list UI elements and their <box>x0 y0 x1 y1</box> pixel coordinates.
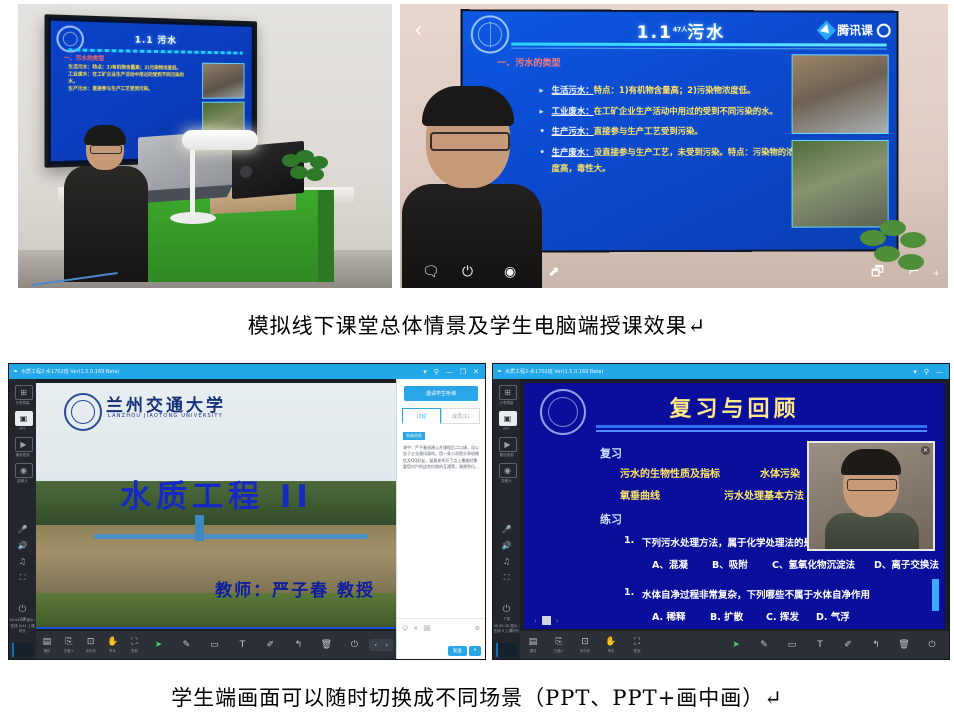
question-text: 下列污水处理方法，属于化学处理法的是 <box>642 535 813 549</box>
review-stage: 复习与回顾 复习 污水的生物性质及指标 水体污染 水体自净 氧垂曲线 污水处理基… <box>520 379 949 659</box>
window-title: 水质工程2-水1702班 Ver(1.5.0.169 Beta) <box>21 368 423 375</box>
power-icon: ⏻ <box>15 603 31 616</box>
text-icon[interactable]: T <box>807 640 833 650</box>
whiteboard-icon: ⎘ <box>65 637 72 647</box>
next-slide-button[interactable]: › <box>385 641 388 649</box>
toolbar-label: 白板+ <box>58 648 80 653</box>
toolbar-label: 签到 <box>624 648 650 653</box>
camera-icon: ◉ <box>499 463 517 478</box>
tv-slide-subheading: 一、污水的类型 <box>64 53 104 62</box>
minimize-icon[interactable]: — <box>446 368 453 376</box>
slide-number: 1.1 <box>637 23 673 43</box>
whiteboard-icon: ⎘ <box>555 637 562 647</box>
toolbar-label: 页中页 <box>80 648 102 653</box>
caption-top: 模拟线下课堂总体情景及学生电脑端授课效果↵ <box>0 310 954 340</box>
question-option: B. 扩散 <box>710 609 743 623</box>
question-number: 1. <box>624 535 634 546</box>
classroom-photo: 1.1 污水 一、污水的类型 生活污水：特点：1)有机物含量高；2)污染物浓度低… <box>18 4 392 288</box>
cursor-icon[interactable]: ➤ <box>723 640 749 650</box>
section-review-label: 复习 <box>600 445 622 461</box>
slide-subheading: 一、污水的类型 <box>497 56 561 69</box>
review-keyword: 水体污染 <box>760 465 800 480</box>
teacher-hair <box>841 449 901 475</box>
question-option: D、离子交换法 <box>874 557 939 571</box>
university-name-en: LANZHOU JIAOTONG UNIVERSITY <box>108 413 223 419</box>
toolbar-courseware[interactable]: ▤课件 <box>520 637 546 653</box>
play-badge-icon <box>817 20 837 40</box>
shape-icon[interactable]: ▭ <box>201 640 227 650</box>
window-titlebar[interactable]: ❧ 水质工程2-水1702班 Ver(1.5.0.169 Beta) ▾ ⚲ — <box>493 364 949 379</box>
window-title: 水质工程2-水1702班 Ver(1.5.0.169 Beta) <box>505 368 913 375</box>
play-video-icon: ▶ <box>499 437 517 452</box>
bullet-lead: 生产废水： <box>552 147 594 157</box>
delete-icon[interactable]: 🗑 <box>891 640 917 650</box>
window-controls[interactable]: ▾ ⚲ — ❐ ✕ <box>423 368 481 376</box>
rail-label: 摄像头 <box>15 479 31 484</box>
question-option: D. 气浮 <box>816 609 850 623</box>
prev-slide-button[interactable]: ‹ <box>374 641 377 649</box>
music-icon[interactable]: ♫ <box>9 557 36 566</box>
bullet-text: 直接参与生产工艺受到污染。 <box>594 126 703 136</box>
side-tabs: 讨论 成员(1) <box>402 408 480 424</box>
close-icon[interactable]: ✕ <box>473 368 479 376</box>
slide-indicator[interactable] <box>542 616 551 625</box>
toolbar-raise-hand[interactable]: ✋举手 <box>102 637 124 653</box>
review-toolbar: ▤课件 ⎘白板+ ⊡页中页 ✋举手 ⛶签到 ➤ ✎ ▭ T ✐ ↰ 🗑 ⏻ <box>520 631 949 659</box>
rail-label: PPT <box>15 427 31 431</box>
rail-label: 分享屏幕 <box>499 401 515 406</box>
brand-ring-icon <box>877 23 891 37</box>
teacher-body <box>825 513 919 551</box>
pin-icon[interactable]: ⚲ <box>434 368 439 376</box>
power-icon: ⏻ <box>499 603 515 616</box>
question-option: A、混凝 <box>652 557 688 571</box>
slide-tower <box>195 515 204 541</box>
chat-send-group[interactable]: 发送 ▾ <box>448 646 481 656</box>
potted-plant <box>280 150 332 192</box>
audio-waveform <box>496 643 517 657</box>
chat-side-panel: 邀请学生听课 讨论 成员(1) 系统消息 课中：严子春创建公开课程后二口课，设公… <box>396 379 485 659</box>
tencent-classroom-window-ppt: ❧ 水质工程2-水1702班 Ver(1.5.0.169 Beta) ▾ ⚲ —… <box>8 363 486 660</box>
invite-students-button[interactable]: 邀请学生听课 <box>404 386 478 401</box>
picture-in-picture-icon[interactable]: 🗗 <box>871 265 884 279</box>
speaker-icon[interactable]: 🔊 <box>9 541 36 550</box>
toolbar-signin[interactable]: ⛶签到 <box>124 637 146 653</box>
highlighter-icon[interactable]: ✐ <box>835 640 861 650</box>
delete-icon[interactable]: 🗑 <box>313 640 339 650</box>
tv-slide-bullets: 生活污水：特点：1)有机物含量高；2)污染物浓度低。 工业废水：在工矿企业生产活… <box>68 64 187 94</box>
lamp-arm <box>190 140 195 216</box>
bullet-text: 特点：1)有机物含量高；2)污染物浓度低。 <box>594 85 756 95</box>
lamp-head <box>182 130 258 150</box>
toolbar-raise-hand[interactable]: ✋举手 <box>598 637 624 653</box>
class-timer: 00:04:42 观众 / 在线 0/44 上课时长 <box>9 618 36 635</box>
power-icon[interactable]: ⏻ <box>341 640 367 650</box>
pip-icon: ⊡ <box>581 637 589 647</box>
review-keyword: 污水的生物性质及指标 <box>620 465 720 480</box>
class-timer: 00:39:38 观众 / 在线 0 上课时长 <box>493 624 520 635</box>
section-practice-label: 练习 <box>600 511 622 527</box>
toolbar-pip[interactable]: ⊡页中页 <box>572 637 598 653</box>
toolbar-label: 白板+ <box>546 648 572 653</box>
rail-label: 播放视频 <box>15 453 31 458</box>
mic-icon[interactable]: ⏻ <box>462 265 473 279</box>
system-message-badge: 系统消息 <box>403 432 425 440</box>
ppt-stage: 兰州交通大学 LANZHOU JIAOTONG UNIVERSITY 水质工程 … <box>36 379 397 659</box>
toolbar-whiteboard[interactable]: ⎘白板+ <box>58 637 80 653</box>
play-video-icon: ▶ <box>15 437 33 452</box>
toolbar-whiteboard[interactable]: ⎘白板+ <box>546 637 572 653</box>
bullet-lead: 生产污水： <box>552 126 594 136</box>
rail-label: 摄像头 <box>499 479 515 484</box>
share-screen-icon: ⊞ <box>499 385 517 400</box>
tv-bullet: 工业废水：在工矿企业生产活动中用过的受到不同污染的水。 <box>68 71 187 86</box>
slide-pager[interactable]: ‹ › <box>369 639 393 651</box>
rail-label: PPT <box>499 427 515 431</box>
slide-bullet: 工业废水：在工矿企业生产活动中用过的受到不同污染的水。 <box>539 103 799 120</box>
course-title: 水质工程 II <box>36 471 397 516</box>
camera-icon: ◉ <box>15 463 33 478</box>
speaker-icon[interactable]: 🔊 <box>493 541 520 550</box>
slide-bullet: 生活污水：特点：1)有机物含量高；2)污染物浓度低。 <box>539 82 799 99</box>
toolbar-label: 课件 <box>36 648 58 653</box>
teacher-figure <box>64 128 148 280</box>
undo-icon[interactable]: ↰ <box>285 640 311 650</box>
left-rail: ⊞ 分享屏幕 ▣ PPT ▶ 播放视频 ◉ 摄像头 🎤 🔊 ♫ ⛶ ⏻ 下课 <box>9 379 36 659</box>
mic-icon[interactable]: 🎤 <box>9 525 36 534</box>
fullscreen-icon[interactable]: ⛶ <box>493 573 520 583</box>
shape-icon[interactable]: ▭ <box>779 640 805 650</box>
rail-item-play-video[interactable]: ▶ 播放视频 <box>499 437 515 457</box>
review-keyword: 污水处理基本方法 <box>724 487 804 502</box>
emoji-icon[interactable]: ☺ <box>402 625 408 632</box>
close-icon[interactable]: ✕ <box>921 446 930 455</box>
undo-icon[interactable]: ↰ <box>863 640 889 650</box>
record-icon[interactable]: ◉ <box>504 265 516 279</box>
app-icon: ❧ <box>497 369 502 375</box>
drawing-tools: ➤ ✎ ▭ T ✐ ↰ 🗑 ⏻ ‹ › <box>145 639 397 651</box>
slide-title-main: 污水 <box>687 23 725 43</box>
student-screen-photo: ‹ 1.147人污水 腾讯课 一、污水的类型 生活污水：特点：1)有机物含量高；… <box>400 4 948 288</box>
tv-slide-image <box>202 63 244 99</box>
review-slide-title: 复习与回顾 <box>524 391 945 423</box>
rail-label: 分享屏幕 <box>15 401 31 406</box>
pen-icon[interactable]: ✎ <box>751 640 777 650</box>
send-options-icon[interactable]: ▾ <box>469 646 481 656</box>
minimize-icon[interactable]: — <box>936 368 943 376</box>
toolbar-courseware[interactable]: ▤课件 <box>36 637 58 653</box>
mic-icon[interactable]: 🎤 <box>493 525 520 534</box>
university-seal-icon <box>64 393 102 431</box>
brand-label: 腾讯课 <box>837 21 873 38</box>
dropdown-icon[interactable]: ▾ <box>913 368 917 376</box>
review-slide[interactable]: 复习与回顾 复习 污水的生物性质及指标 水体污染 水体自净 氧垂曲线 污水处理基… <box>524 383 945 629</box>
toolbar-signin[interactable]: ⛶签到 <box>624 637 650 653</box>
chat-input-toolbar[interactable]: ☺ ✕ 🖼 ⚙ <box>397 618 485 637</box>
window-titlebar[interactable]: ❧ 水质工程2-水1702班 Ver(1.5.0.169 Beta) ▾ ⚲ —… <box>9 364 485 379</box>
power-icon[interactable]: ⏻ <box>919 640 945 650</box>
question-option: A. 稀释 <box>652 609 685 623</box>
toolbar-label: 页中页 <box>572 648 598 653</box>
rail-item-ppt[interactable]: ▣ PPT <box>499 411 515 431</box>
slide-rule-thin <box>511 48 886 50</box>
bullet-text: 在工矿企业生产活动中用过的受到不同污染的水。 <box>594 106 778 116</box>
music-icon[interactable]: ♫ <box>493 557 520 566</box>
desk-side <box>318 190 334 282</box>
rail-item-share-screen[interactable]: ⊞ 分享屏幕 <box>499 385 515 405</box>
review-keyword: 氧垂曲线 <box>620 487 660 502</box>
tencent-classroom-brand: 腾讯课 <box>819 21 890 38</box>
teacher-hair <box>422 86 514 126</box>
next-icon[interactable]: › <box>556 617 559 625</box>
drawing-tools: ➤ ✎ ▭ T ✐ ↰ 🗑 ⏻ <box>723 640 949 650</box>
signin-icon: ⛶ <box>634 637 640 647</box>
hand-icon: ✋ <box>107 637 118 647</box>
toolbar-label: 签到 <box>124 648 146 653</box>
rail-label: 播放视频 <box>499 453 515 458</box>
rail-item-camera[interactable]: ◉ 摄像头 <box>15 463 31 483</box>
signin-icon: ⛶ <box>131 637 137 647</box>
slide-bullet: 生产污水：直接参与生产工艺受到污染。 <box>539 123 799 139</box>
ppt-icon: ▣ <box>499 411 517 426</box>
slide-nav[interactable]: ‹ › <box>534 616 559 625</box>
cursor-icon[interactable]: ➤ <box>145 640 171 650</box>
screenshot-page: 1.1 污水 一、污水的类型 生活污水：特点：1)有机物含量高；2)污染物浓度低… <box>0 0 954 720</box>
question-option: C、氢氧化物沉淀法 <box>772 557 855 571</box>
expand-icon[interactable]: ⬈ <box>548 265 560 279</box>
collapse-icon[interactable]: ⌐ <box>908 265 920 279</box>
dropdown-icon[interactable]: ▾ <box>423 368 427 376</box>
ppt-icon: ▣ <box>15 411 33 426</box>
ppt-slide[interactable]: 兰州交通大学 LANZHOU JIAOTONG UNIVERSITY 水质工程 … <box>36 383 397 627</box>
courseware-icon: ▤ <box>43 637 52 647</box>
ppt-toolbar: ▤课件 ⎘白板+ ⊡页中页 ✋举手 ⛶签到 ➤ ✎ ▭ T ✐ ↰ 🗑 ⏻ ‹ … <box>36 631 397 659</box>
share-screen-icon: ⊞ <box>15 385 33 400</box>
chat-icon[interactable]: 🗨 <box>422 265 440 279</box>
rail-item-camera[interactable]: ◉ 摄像头 <box>499 463 515 483</box>
audio-waveform <box>12 643 33 657</box>
teacher-hair <box>84 125 126 145</box>
slide-bullet: 生产废水：没直接参与生产工艺，未受到污染。特点：污染物的浓度高，毒性大。 <box>539 144 799 177</box>
maximize-icon[interactable]: ❐ <box>460 368 466 376</box>
slide-photo-sewer <box>792 54 889 134</box>
courseware-icon: ▤ <box>529 637 538 647</box>
question-number: 1. <box>624 587 634 598</box>
bullet-lead: 工业废水： <box>552 106 594 116</box>
rail-label: 下课 <box>499 617 515 622</box>
add-icon[interactable]: + <box>932 270 940 279</box>
viewer-count: 47人 <box>673 26 687 33</box>
fullscreen-icon[interactable]: ⛶ <box>9 573 36 583</box>
rail-item-end-class[interactable]: ⏻ 下课 <box>499 603 515 623</box>
prev-icon[interactable]: ‹ <box>534 617 537 625</box>
pen-icon[interactable]: ✎ <box>173 640 199 650</box>
slide-rule <box>596 425 927 428</box>
question-text: 水体自净过程非常复杂，下列哪些不属于水体自净作用 <box>642 587 870 601</box>
toolbar-label: 举手 <box>598 648 624 653</box>
player-control-bar: 🗨 ⏻ ◉ ⬈ 🗗 ⌐ + <box>400 252 948 288</box>
toolbar-label: 课件 <box>520 648 546 653</box>
teacher-name: 教师：严子春 教授 <box>215 576 375 601</box>
hand-icon: ✋ <box>605 637 616 647</box>
teacher-glasses <box>430 132 510 151</box>
back-icon[interactable]: ‹ <box>414 18 432 44</box>
toolbar-label: 举手 <box>102 648 124 653</box>
question-option: C. 挥发 <box>766 609 799 623</box>
caption-bottom: 学生端画面可以随时切换成不同场景（PPT、PPT+画中画）↵ <box>0 682 954 712</box>
settings-icon[interactable]: ⚙ <box>475 625 480 632</box>
tab-members[interactable]: 成员(1) <box>441 408 480 424</box>
teacher-camera-overlay[interactable]: ✕ <box>807 441 935 551</box>
window-controls[interactable]: ▾ ⚲ — <box>913 368 945 376</box>
rail-item-ppt[interactable]: ▣ PPT <box>15 411 31 431</box>
question-option: B、吸附 <box>712 557 748 571</box>
slide-photo-outfall <box>792 140 889 228</box>
image-icon[interactable]: 🖼 <box>423 625 431 632</box>
pip-icon: ⊡ <box>87 637 95 647</box>
send-button[interactable]: 发送 <box>448 646 467 656</box>
close-icon[interactable]: ✕ <box>413 625 418 632</box>
teacher-body <box>64 166 148 282</box>
pin-icon[interactable]: ⚲ <box>924 368 929 376</box>
tab-discussion[interactable]: 讨论 <box>402 408 441 424</box>
slide-bridge <box>94 534 368 539</box>
left-rail: ⊞ 分享屏幕 ▣ PPT ▶ 播放视频 ◉ 摄像头 🎤 🔊 ♫ ⛶ ⏻ 下课 <box>493 379 520 659</box>
highlighter-icon[interactable]: ✐ <box>257 640 283 650</box>
text-icon[interactable]: T <box>229 640 255 650</box>
slide-rule <box>511 43 886 47</box>
app-icon: ❧ <box>13 369 18 375</box>
toolbar-pip[interactable]: ⊡页中页 <box>80 637 102 653</box>
teacher-glasses <box>847 479 897 491</box>
tencent-classroom-window-review: ❧ 水质工程2-水1702班 Ver(1.5.0.169 Beta) ▾ ⚲ —… <box>492 363 950 660</box>
slide-progress-bar[interactable] <box>36 627 397 629</box>
slide-scrollbar[interactable] <box>932 579 939 611</box>
teacher-glasses <box>90 145 122 154</box>
slide-rule-thin <box>596 430 927 432</box>
system-message-text: 课中：严子春创建公开课程后二口课，设公告于企业通讯录的。用一条小消息分享给微信及… <box>403 445 479 471</box>
bullet-lead: 生活污水： <box>552 85 594 95</box>
tv-bullet: 生产污水：直接参与生产工艺受到污染。 <box>68 86 187 93</box>
rail-item-play-video[interactable]: ▶ 播放视频 <box>15 437 31 457</box>
rail-item-share-screen[interactable]: ⊞ 分享屏幕 <box>15 385 31 405</box>
